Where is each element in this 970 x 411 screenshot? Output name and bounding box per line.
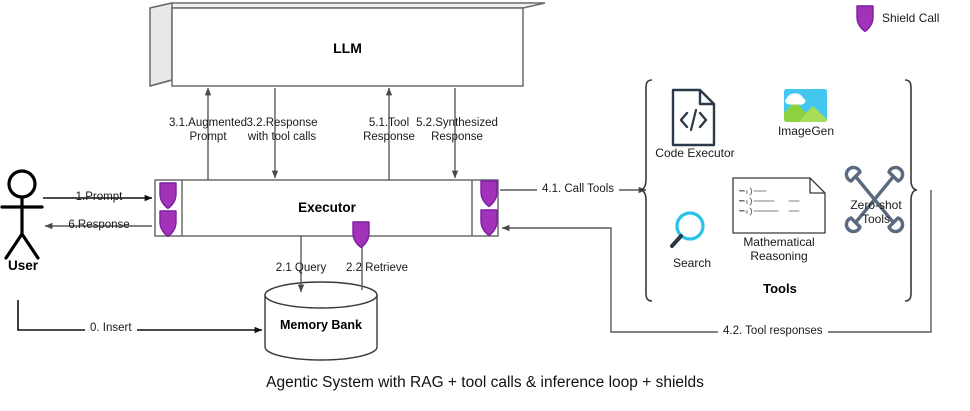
edge-label-query: 2.1 Query — [262, 262, 340, 275]
edge-label-response: 6.Response — [53, 219, 145, 232]
tool-label-math-line1: Mathematical — [724, 236, 834, 249]
executor-label: Executor — [182, 200, 472, 215]
edge-label-synthesized-response-line2: Response — [397, 131, 517, 144]
formula-document-icon — [733, 178, 825, 233]
diagram-caption: Agentic System with RAG + tool calls & i… — [0, 374, 970, 392]
shield-icon-executor-memory — [353, 222, 369, 248]
image-thumbnail-icon — [784, 89, 827, 122]
edge-label-synthesized-response-line1: 5.2.Synthesized — [397, 117, 517, 130]
legend-shield-label: Shield Call — [882, 12, 970, 25]
memory-bank-label: Memory Bank — [265, 318, 377, 332]
magnifier-icon — [672, 213, 703, 246]
tools-group-label: Tools — [700, 281, 860, 296]
edge-label-call-tools: 4.1. Call Tools — [537, 183, 619, 196]
diagram-canvas — [0, 0, 970, 411]
user-label: User — [0, 258, 46, 273]
edge-label-response-tool-calls-line2: with tool calls — [222, 131, 342, 144]
edge-label-response-tool-calls-line1: 3.2.Response — [222, 117, 342, 130]
edge-label-prompt: 1.Prompt — [53, 191, 145, 204]
tool-label-math-line2: Reasoning — [724, 250, 834, 263]
tool-label-zeroshot-line2: Tools — [838, 213, 914, 226]
tool-label-zeroshot-line1: Zero-shot — [838, 199, 914, 212]
edge-insert — [18, 300, 262, 330]
edge-label-retrieve: 2.2 Retrieve — [334, 262, 420, 275]
shield-icon-legend — [857, 6, 873, 32]
tool-label-imagegen: ImageGen — [760, 125, 852, 138]
tools-group-brace-right — [905, 80, 917, 301]
tool-label-code-executor: Code Executor — [650, 147, 740, 160]
llm-label: LLM — [172, 40, 523, 56]
tool-label-search: Search — [660, 257, 724, 270]
edge-label-tool-responses: 4.2. Tool responses — [718, 325, 828, 338]
user-stick-figure — [2, 171, 42, 258]
code-document-icon — [673, 90, 714, 145]
edge-label-insert: 0. Insert — [85, 322, 137, 335]
